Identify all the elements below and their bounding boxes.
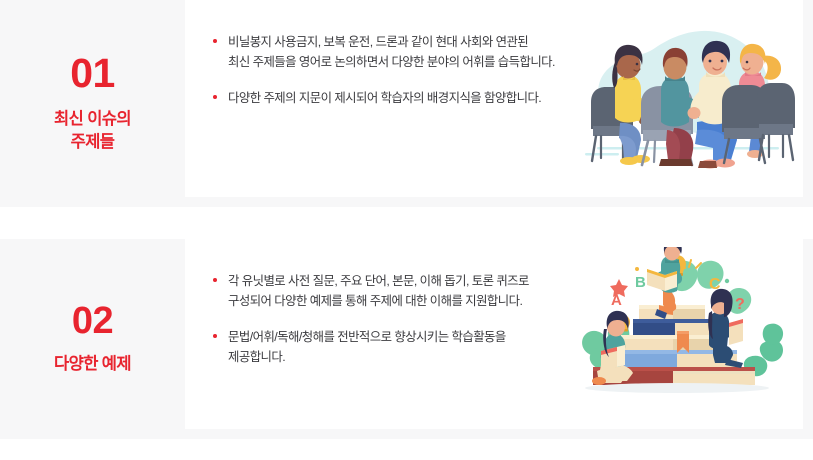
card-02-title-line-1: 다양한 예제 xyxy=(54,353,131,376)
card-02-bullet-list: 각 유닛별로 사전 질문, 주요 단어, 본문, 이해 돕기, 토론 퀴즈로 구… xyxy=(211,271,591,367)
card-01-body-panel: 비닐봉지 사용금지, 보복 운전, 드론과 같이 현대 사회와 연관된 최신 주… xyxy=(185,0,803,197)
list-item: 문법/어휘/독해/청해를 전반적으로 향상시키는 학습활동을 제공합니다. xyxy=(211,327,591,367)
card-02-title: 다양한 예제 xyxy=(54,353,131,376)
bullet-line: 최신 주제들을 영어로 논의하면서 다양한 분야의 어휘를 습득합니다. xyxy=(228,52,606,72)
group-discussion-illustration xyxy=(579,18,797,178)
svg-text:?: ? xyxy=(735,296,745,313)
bullet-dot-icon xyxy=(213,334,217,338)
bullet-dot-icon xyxy=(213,278,217,282)
card-01-number: 01 xyxy=(70,53,115,94)
bullet-dot-icon xyxy=(213,95,217,99)
list-item: 비닐봉지 사용금지, 보복 운전, 드론과 같이 현대 사회와 연관된 최신 주… xyxy=(211,32,606,72)
card-02-number: 02 xyxy=(72,302,113,340)
card-01-bullet-list: 비닐봉지 사용금지, 보복 운전, 드론과 같이 현대 사회와 연관된 최신 주… xyxy=(211,32,606,108)
bullet-line: 비닐봉지 사용금지, 보복 운전, 드론과 같이 현대 사회와 연관된 xyxy=(228,32,606,52)
feature-card-01: 01 최신 이슈의 주제들 비닐봉지 사용금지, 보복 운전, 드론과 같이 현… xyxy=(0,0,813,207)
bullet-line: 구성되어 다양한 예제를 통해 주제에 대한 이해를 지원합니다. xyxy=(228,291,591,311)
feature-card-02: 02 다양한 예제 각 유닛별로 사전 질문, 주요 단어, 본문, 이해 돕기… xyxy=(0,239,813,439)
list-item: 다양한 주제의 지문이 제시되어 학습자의 배경지식을 함양합니다. xyxy=(211,88,606,108)
feature-cards-page: 01 최신 이슈의 주제들 비닐봉지 사용금지, 보복 운전, 드론과 같이 현… xyxy=(0,0,813,460)
bullet-line: 제공합니다. xyxy=(228,347,591,367)
list-item: 각 유닛별로 사전 질문, 주요 단어, 본문, 이해 돕기, 토론 퀴즈로 구… xyxy=(211,271,591,311)
card-01-label-column: 01 최신 이슈의 주제들 xyxy=(0,0,185,207)
students-reading-books-illustration: A B C ? ! xyxy=(577,247,795,397)
bullet-dot-icon xyxy=(213,39,217,43)
bullet-text: 문법/어휘/독해/청해를 전반적으로 향상시키는 학습활동을 제공합니다. xyxy=(228,327,591,367)
card-01-title: 최신 이슈의 주제들 xyxy=(54,108,131,154)
bullet-line: 다양한 주제의 지문이 제시되어 학습자의 배경지식을 함양합니다. xyxy=(228,88,606,108)
bullet-text: 비닐봉지 사용금지, 보복 운전, 드론과 같이 현대 사회와 연관된 최신 주… xyxy=(228,32,606,72)
card-02-label-column: 02 다양한 예제 xyxy=(0,239,185,439)
bullet-line: 각 유닛별로 사전 질문, 주요 단어, 본문, 이해 돕기, 토론 퀴즈로 xyxy=(228,271,591,291)
card-01-title-line-2: 주제들 xyxy=(54,131,131,154)
card-02-body-panel: 각 유닛별로 사전 질문, 주요 단어, 본문, 이해 돕기, 토론 퀴즈로 구… xyxy=(185,239,803,429)
svg-text:B: B xyxy=(635,274,646,291)
bullet-line: 문법/어휘/독해/청해를 전반적으로 향상시키는 학습활동을 xyxy=(228,327,591,347)
bullet-text: 각 유닛별로 사전 질문, 주요 단어, 본문, 이해 돕기, 토론 퀴즈로 구… xyxy=(228,271,591,311)
card-01-title-line-1: 최신 이슈의 xyxy=(54,108,131,131)
bullet-text: 다양한 주제의 지문이 제시되어 학습자의 배경지식을 함양합니다. xyxy=(228,88,606,108)
